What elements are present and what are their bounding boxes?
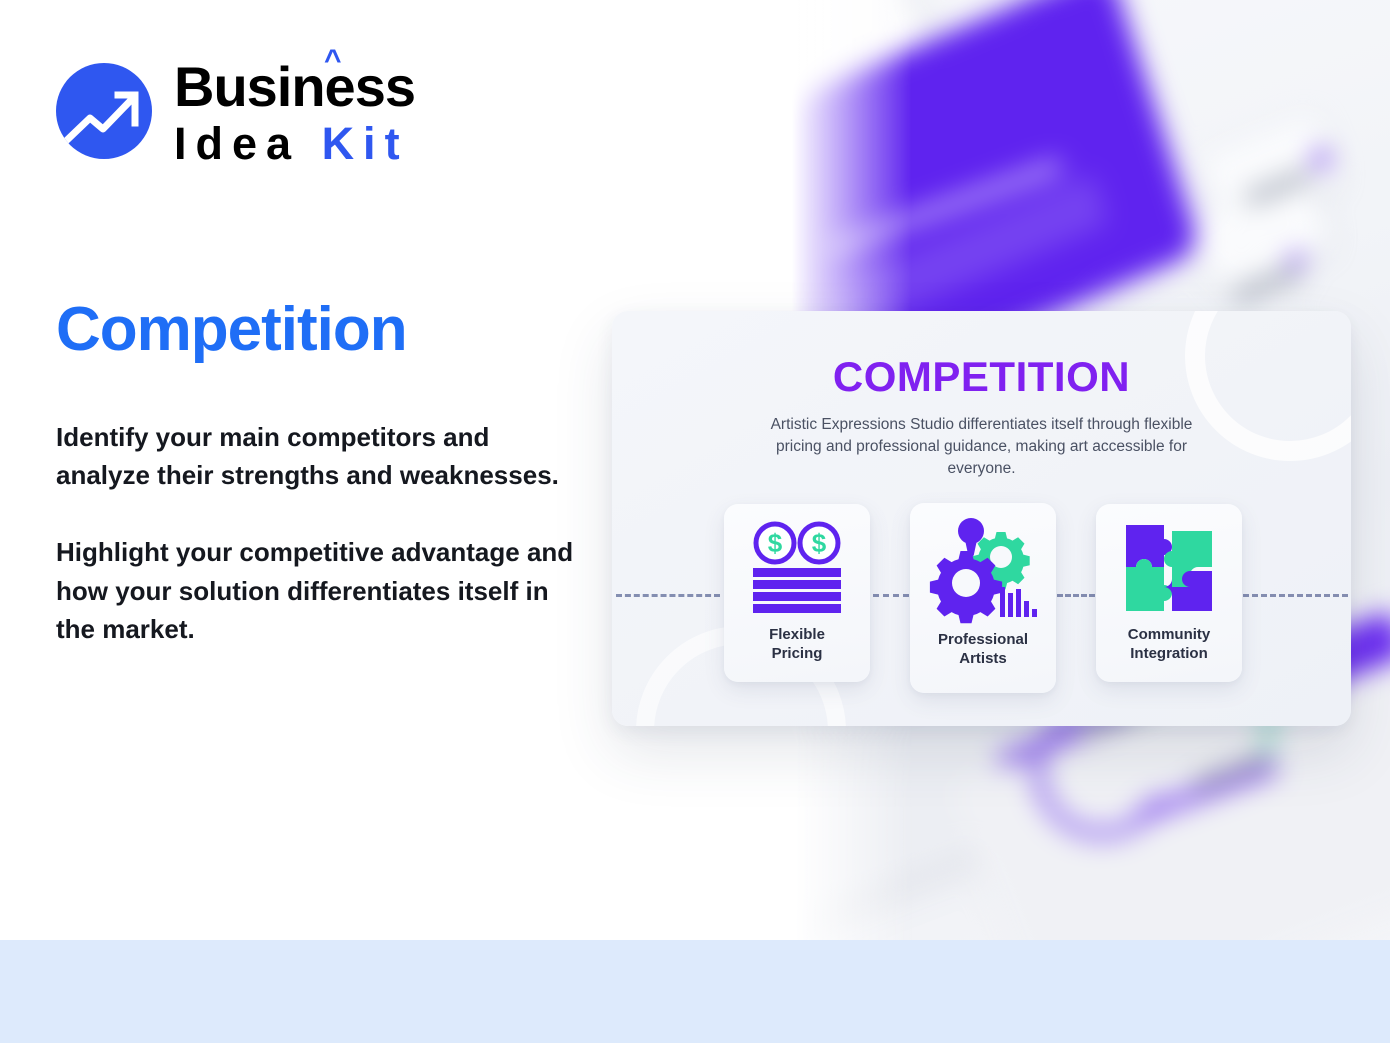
slide-page: Business ^ Idea Kit Competition Identify… bbox=[0, 0, 1390, 1043]
description-paragraph-1: Identify your main competitors and analy… bbox=[56, 418, 576, 494]
feature-label-line1: Flexible bbox=[769, 626, 825, 643]
gears-lightbulb-chart-icon bbox=[927, 509, 1039, 629]
feature-card-professional-artists[interactable]: Professional Artists bbox=[910, 503, 1056, 693]
connector-dash-2-3 bbox=[1057, 594, 1095, 597]
svg-text:$: $ bbox=[768, 528, 783, 558]
slide-card-subtitle: Artistic Expressions Studio differentiat… bbox=[752, 414, 1211, 480]
brand-name-line1: Business ^ bbox=[174, 59, 415, 115]
feature-label-line2: Integration bbox=[1130, 645, 1208, 662]
brand-name-line2: Idea Kit bbox=[174, 121, 415, 166]
svg-text:$: $ bbox=[812, 528, 827, 558]
coin-stacks-dollar-icon: $ $ bbox=[745, 512, 849, 624]
connector-dash-left-outer bbox=[616, 594, 720, 597]
feature-label-line2: Pricing bbox=[772, 645, 823, 662]
feature-card-community-integration[interactable]: Community Integration bbox=[1096, 504, 1242, 682]
feature-label-line2: Artists bbox=[959, 650, 1007, 667]
slide-card-title: COMPETITION bbox=[612, 353, 1351, 401]
brand-name-idea: Idea bbox=[174, 118, 300, 169]
growth-arrow-chart-icon bbox=[56, 63, 152, 159]
page-description: Identify your main competitors and analy… bbox=[56, 418, 576, 648]
connector-dash-right-outer bbox=[1243, 594, 1348, 597]
feature-label-professional-artists: Professional Artists bbox=[938, 631, 1028, 669]
brand-logo: Business ^ Idea Kit bbox=[56, 55, 415, 166]
connector-dash-1-2 bbox=[873, 594, 909, 597]
page-title: Competition bbox=[56, 294, 407, 365]
description-paragraph-2: Highlight your competitive advantage and… bbox=[56, 533, 576, 648]
footer-bar bbox=[0, 940, 1390, 1043]
brand-wordmark: Business ^ Idea Kit bbox=[174, 55, 415, 166]
feature-card-flexible-pricing[interactable]: $ $ Flexible Pricing bbox=[724, 504, 870, 682]
feature-label-community-integration: Community Integration bbox=[1128, 626, 1211, 664]
feature-label-line1: Community bbox=[1128, 626, 1211, 643]
brand-name-kit: Kit bbox=[322, 118, 409, 169]
feature-label-flexible-pricing: Flexible Pricing bbox=[769, 626, 825, 664]
brand-caret-accent: ^ bbox=[324, 46, 341, 76]
puzzle-pieces-icon bbox=[1120, 512, 1218, 624]
feature-label-line1: Professional bbox=[938, 631, 1028, 648]
brand-name-business: Business bbox=[174, 55, 415, 118]
bg-dot-purple-top bbox=[1312, 150, 1330, 168]
